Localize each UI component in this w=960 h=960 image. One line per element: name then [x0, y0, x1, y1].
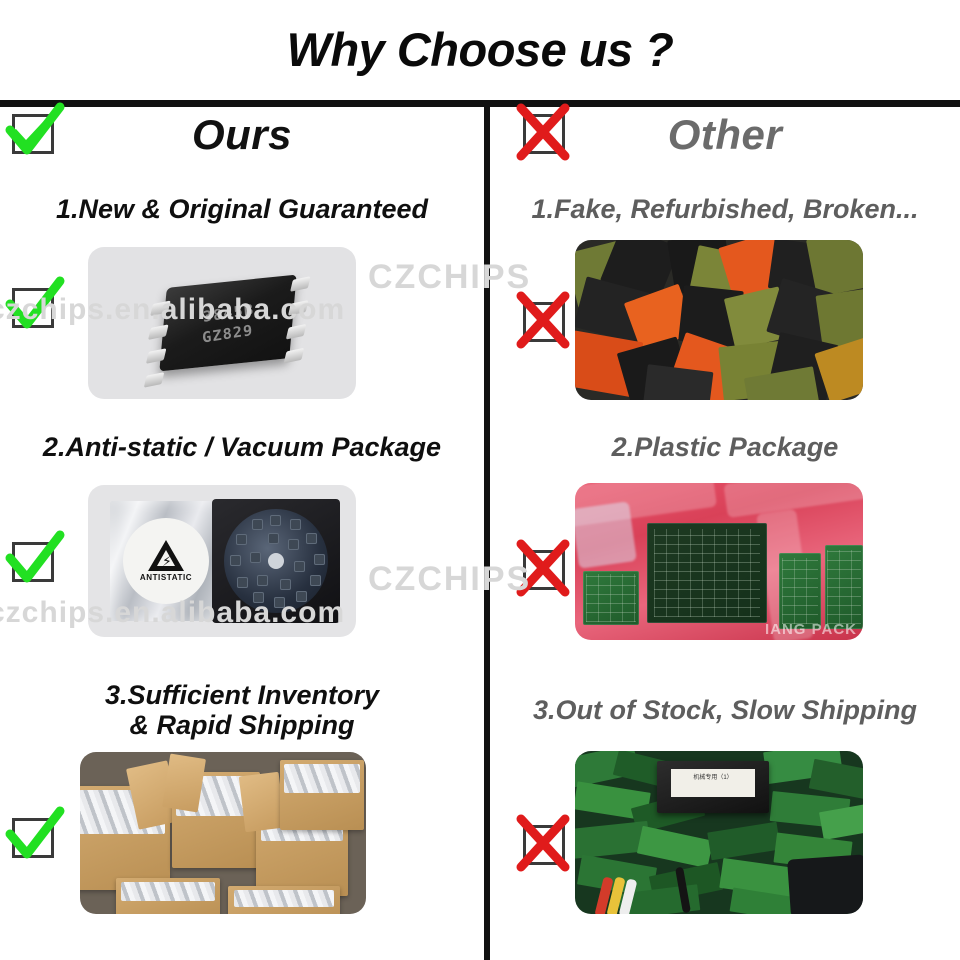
module-label: 机械专用（1） — [671, 769, 755, 797]
ours-row-2-label: 2.Anti-static / Vacuum Package — [0, 432, 484, 462]
inventory-boxes-photo — [80, 752, 366, 914]
chip-body: 3845B GZ829 — [159, 275, 296, 372]
ours-column: Ours 1.New & Original Guaranteed 3845B G… — [0, 107, 484, 960]
cross-icon-row-3 — [515, 815, 573, 873]
plastic-package-photo: IANG PACK — [575, 483, 863, 640]
ours-row-1-label: 1.New & Original Guaranteed — [0, 194, 484, 224]
check-icon-row-2 — [4, 532, 62, 590]
other-row-2-label: 2.Plastic Package — [490, 432, 960, 462]
esd-warning-icon: ⚡ — [148, 540, 184, 571]
ours-row-3-label: 3.Sufficient Inventory & Rapid Shipping — [0, 680, 484, 740]
ic-chip-photo: 3845B GZ829 — [88, 247, 356, 399]
other-row-3-label: 3.Out of Stock, Slow Shipping — [490, 695, 960, 725]
antistatic-label: ANTISTATIC — [140, 573, 192, 582]
check-icon-ours-header — [4, 104, 62, 162]
infographic-canvas: Why Choose us ? Ours 1.New & Original Gu… — [0, 0, 960, 960]
pcb-waste-photo: 机械专用（1） — [575, 751, 863, 914]
other-row-1-label: 1.Fake, Refurbished, Broken... — [490, 194, 960, 224]
check-icon-row-1 — [4, 278, 62, 336]
page-title: Why Choose us ? — [0, 22, 960, 77]
scrap-chips-photo — [575, 240, 863, 400]
pack-watermark: IANG PACK — [765, 621, 857, 638]
cross-icon-row-2 — [515, 540, 573, 598]
antistatic-package-photo: ⚡ ANTISTATIC — [88, 485, 356, 637]
ours-heading: Ours — [0, 111, 484, 159]
cross-icon-row-1 — [515, 292, 573, 350]
antistatic-bag: ⚡ ANTISTATIC — [110, 501, 222, 621]
component-reel-tray — [212, 499, 340, 623]
cross-icon-other-header — [515, 104, 573, 162]
check-icon-row-3 — [4, 808, 62, 866]
header-divider — [0, 100, 960, 107]
black-module: 机械专用（1） — [657, 761, 769, 813]
